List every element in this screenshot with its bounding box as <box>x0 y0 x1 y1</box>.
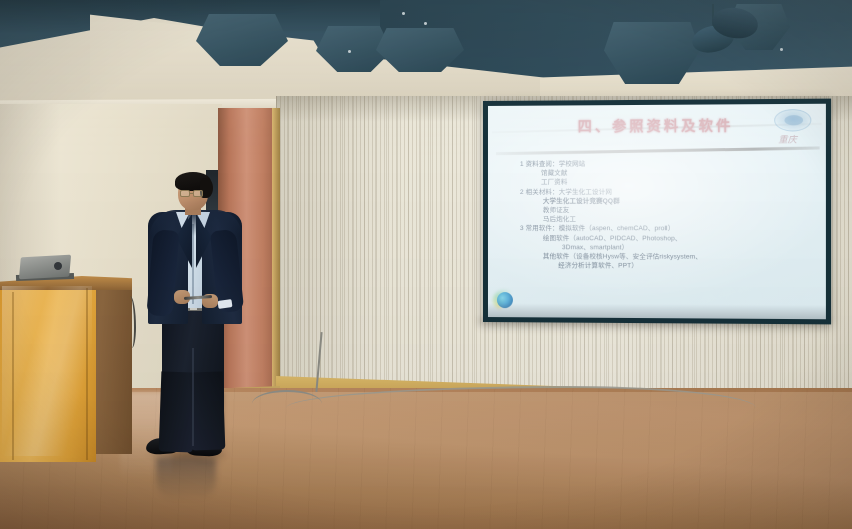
slide-body-line: 大学生化工设计竞赛QQ群 <box>520 197 816 206</box>
slide-body-line: 绘图软件（autoCAD、PIDCAD、Photoshop、 <box>520 234 816 244</box>
ceiling-light-speck <box>424 22 427 25</box>
ceiling-light-speck <box>402 12 405 15</box>
slide-body-line: 教师证友 <box>520 206 816 215</box>
slide-body-line: 3 常用软件：模拟软件（aspen、chemCAD、proⅡ） <box>520 224 816 234</box>
presenter-leg-right <box>189 371 226 450</box>
screen-bottom-shading <box>488 303 826 319</box>
university-seal-inner-icon <box>784 115 803 125</box>
presenter-shirt-placket <box>192 224 194 304</box>
slide-body: 1 资料查阅：学校网站 馆藏文献 工厂资料 2 相关材料：大学生化工设计网 大学… <box>520 159 816 272</box>
ceiling-light-speck <box>780 48 783 51</box>
lectern-gloss <box>2 286 92 456</box>
lectern-seam <box>12 292 14 460</box>
eyeglasses-icon <box>180 190 206 197</box>
lectern-seam <box>86 288 88 460</box>
laptop-hinge <box>54 262 62 270</box>
eyeglass-lens-right <box>193 190 203 197</box>
projection-screen-frame: 四、参照资料及软件 重庆 1 资料查阅：学校网站 馆藏文献 工厂资料 2 相关材… <box>483 99 831 325</box>
slide-title-rule <box>496 146 820 155</box>
eyeglass-lens-left <box>180 190 190 197</box>
presenter-trouser-seam <box>192 348 194 446</box>
slide-body-line: 2 相关材料：大学生化工设计网 <box>520 187 816 197</box>
slide-logo-caption: 重庆 <box>778 132 819 142</box>
lecture-hall-scene: 四、参照资料及软件 重庆 1 资料查阅：学校网站 馆藏文献 工厂资料 2 相关材… <box>0 0 852 529</box>
ceiling-light-speck <box>348 50 351 53</box>
column-gold-edge <box>272 108 280 408</box>
slide-body-line: 经济分析计算软件、PPT） <box>520 261 816 271</box>
slide-body-line: 马后炮化工 <box>520 215 816 224</box>
presenter <box>140 172 252 458</box>
laptop-lid[interactable] <box>19 255 71 280</box>
projection-screen-surface[interactable]: 四、参照资料及软件 重庆 1 资料查阅：学校网站 馆藏文献 工厂资料 2 相关材… <box>488 104 826 320</box>
slide-body-line: 工厂资料 <box>520 178 816 188</box>
presenter-floor-reflection <box>156 458 216 500</box>
